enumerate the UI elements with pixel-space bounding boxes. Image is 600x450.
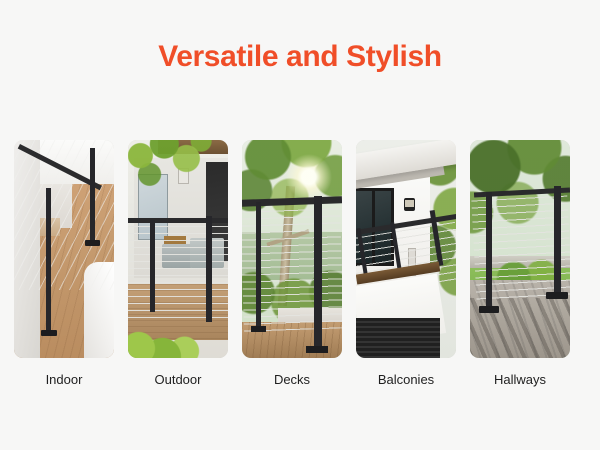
rail-post-back (90, 148, 95, 244)
outdoor-thumbnail-image[interactable] (128, 140, 228, 358)
gallery-card-outdoor[interactable]: Outdoor (128, 140, 228, 388)
sun-flare (286, 154, 332, 200)
hallways-scene (470, 140, 570, 358)
hallways-thumbnail-image[interactable] (470, 140, 570, 358)
rail-post-left-base (251, 326, 266, 332)
diagonal-cable-lines (14, 140, 114, 290)
dark-louver-panel (356, 318, 440, 358)
gallery-card-balconies[interactable]: Balconies (356, 140, 456, 388)
page-title: Versatile and Stylish (0, 38, 600, 76)
rail-post-right (314, 196, 322, 352)
rail-post-front-base (41, 330, 57, 336)
tree-canopy (128, 140, 214, 206)
rail-post-left (256, 202, 261, 330)
gallery-card-indoor[interactable]: Indoor (14, 140, 114, 388)
indoor-scene (14, 140, 114, 358)
application-gallery: Indoor (14, 140, 586, 388)
rail-post-right-base (546, 292, 568, 299)
rail-post-front (46, 188, 51, 334)
balconies-thumbnail-image[interactable] (356, 140, 456, 358)
cable-infill (128, 226, 228, 318)
promo-panel: Versatile and Stylish (0, 0, 600, 450)
sconce-glow (405, 200, 414, 207)
rail-post-left (150, 220, 155, 312)
decks-thumbnail-image[interactable] (242, 140, 342, 358)
gallery-card-label: Hallways (494, 372, 546, 388)
top-rail (128, 218, 228, 223)
rail-post-left (486, 192, 492, 312)
gallery-card-hallways[interactable]: Hallways (470, 140, 570, 388)
gallery-card-decks[interactable]: Decks (242, 140, 342, 388)
rail-post-left-base (479, 306, 499, 313)
outdoor-scene (128, 140, 228, 358)
indoor-thumbnail-image[interactable] (14, 140, 114, 358)
rail-post-back-base (85, 240, 100, 246)
gallery-card-label: Indoor (46, 372, 83, 388)
balconies-scene (356, 140, 456, 358)
garden-shrubs (128, 322, 214, 358)
gallery-card-label: Balconies (378, 372, 434, 388)
rail-post-right (554, 186, 561, 298)
gallery-card-label: Decks (274, 372, 310, 388)
rail-post-right-base (306, 346, 328, 353)
decks-scene (242, 140, 342, 358)
rail-post-right (206, 216, 212, 322)
gallery-card-label: Outdoor (155, 372, 202, 388)
